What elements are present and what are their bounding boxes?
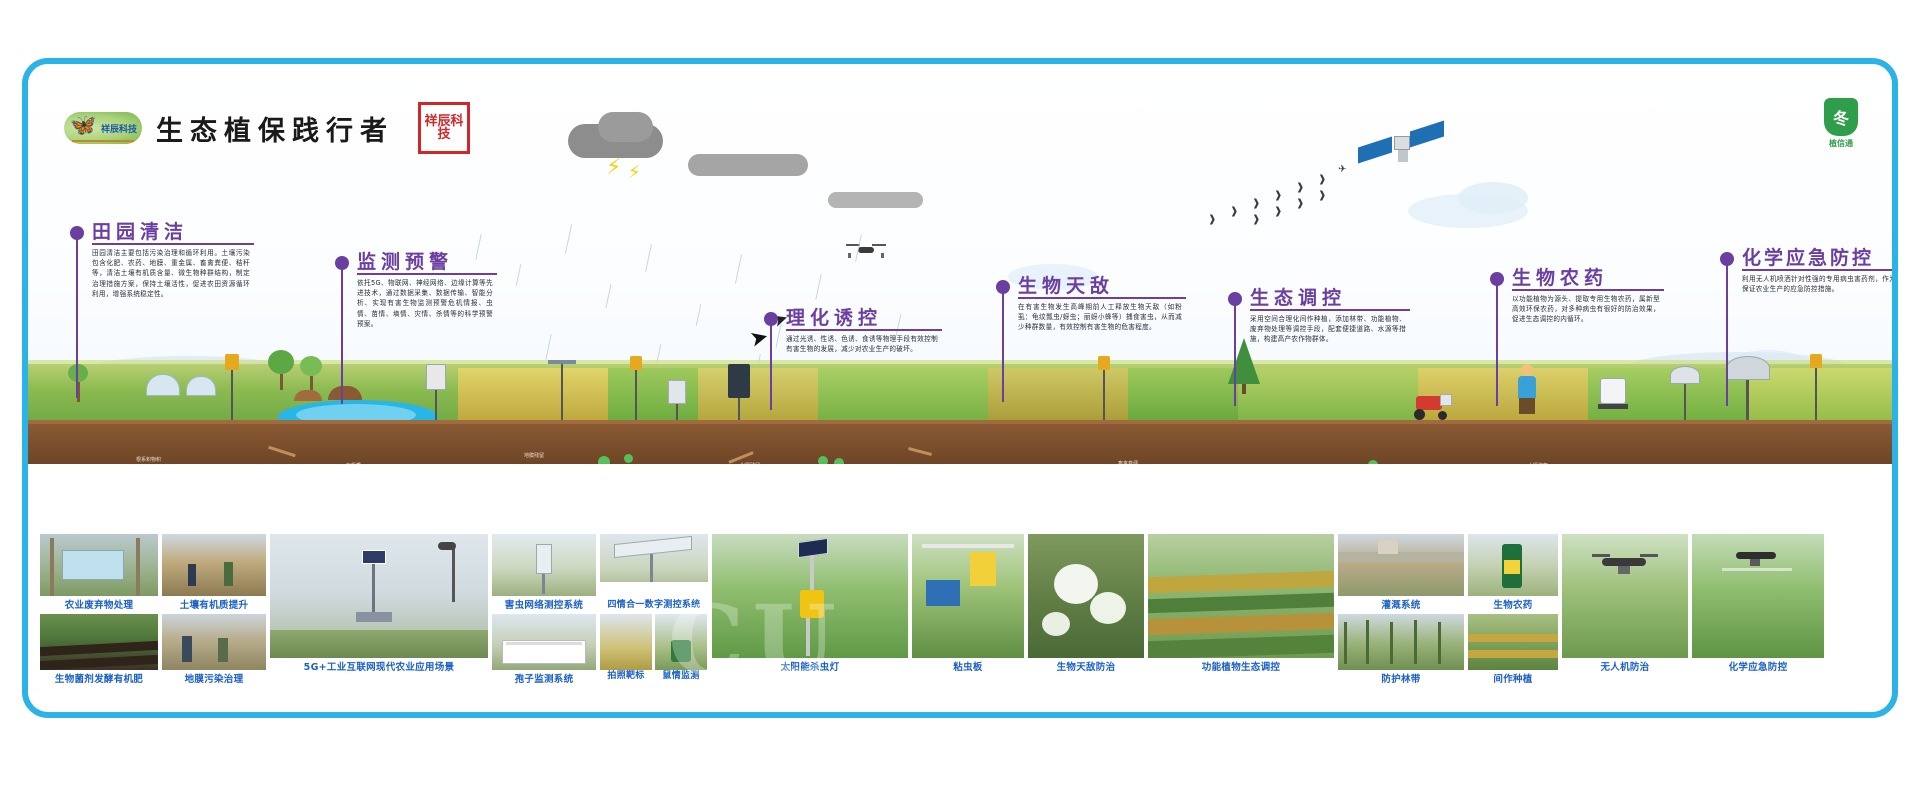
- soil-microbe-icon: [818, 456, 828, 464]
- gallery-column: 太阳能杀虫灯: [712, 534, 908, 714]
- shield-icon: 冬: [1824, 98, 1858, 136]
- callout-body: 通过光诱、性诱、色诱、食诱等物理手段有效控制有害生物的发展，减少对农业生产的破坏…: [786, 334, 938, 354]
- callout-rule: [786, 329, 942, 331]
- gallery-caption: 地膜污染治理: [162, 673, 266, 685]
- callout-rule: [1742, 269, 1898, 271]
- callout-stem: [341, 268, 343, 404]
- gallery-column: 四情合一数字测控系统 拍照靶标 鼠情监测: [600, 534, 708, 714]
- gallery-photo[interactable]: [655, 614, 707, 670]
- gallery-photo[interactable]: [1148, 534, 1334, 658]
- monitoring-pole-icon: [630, 356, 642, 424]
- soil-microbe-icon: [1368, 460, 1378, 464]
- storm-cloud-icon: [828, 192, 923, 208]
- gallery-caption: 功能植物生态调控: [1148, 661, 1334, 673]
- satellite-dish-icon: [1726, 356, 1770, 422]
- gallery-caption: 5G+工业互联网现代农业应用场景: [270, 661, 488, 673]
- bird-flock-icon: ✈ ❱ ❱ ❱ ❱ ❱ ❱ ❱ ❱ ❱ ❱: [1168, 164, 1358, 224]
- gallery-photo[interactable]: [1692, 534, 1824, 658]
- gallery-column: 粘虫板: [912, 534, 1024, 714]
- callout-body: 依托5G、物联网、神经网络、边缘计算等先进技术，通过数据采集、数据传输、智能分析…: [357, 278, 493, 329]
- callout-body: 田园清洁主要包括污染治理和循环利用。土壤污染包含化肥、农药、地膜、重金属、畜禽粪…: [92, 248, 250, 299]
- monitoring-cabinet-icon: [728, 364, 750, 426]
- gallery-caption: 灌溉系统: [1338, 599, 1464, 611]
- gallery-photo[interactable]: [162, 534, 266, 596]
- gallery-photo[interactable]: [912, 534, 1024, 658]
- callout-stem: [1496, 284, 1498, 406]
- crop-stripe: [698, 368, 818, 424]
- callout-stem: [770, 324, 772, 410]
- soil-label: 有机质: [346, 462, 361, 464]
- gallery-caption: 生物菌剂发酵有机肥: [40, 673, 158, 685]
- soil-label: 根系积物积: [136, 456, 161, 463]
- gallery-caption: 粘虫板: [912, 661, 1024, 673]
- tree-icon: [268, 350, 294, 390]
- gallery-column: 无人机防治: [1562, 534, 1688, 714]
- greenhouse-icon: [146, 374, 180, 396]
- gallery-caption: 生物农药: [1468, 599, 1558, 611]
- callout-title: 生态调控: [1250, 283, 1346, 310]
- gallery-photo[interactable]: [270, 534, 488, 658]
- gallery-column: 农业废弃物处理 生物菌剂发酵有机肥: [40, 534, 158, 714]
- gallery-photo[interactable]: [1468, 534, 1558, 596]
- gallery-column: 功能植物生态调控: [1148, 534, 1334, 714]
- tree-icon: [300, 356, 322, 390]
- farmer-icon: [1518, 364, 1536, 414]
- gallery-column: 害虫网络测控系统 孢子监测系统: [492, 534, 596, 714]
- callout-title: 化学应急防控: [1742, 243, 1874, 270]
- lightning-icon: ⚡: [606, 157, 621, 179]
- crop-stripe: [818, 368, 988, 424]
- company-logo: 🦋 祥辰科技: [64, 112, 142, 144]
- monitoring-pole-icon: [1098, 356, 1110, 424]
- soil-microbe-icon: [834, 458, 844, 464]
- gallery-photo[interactable]: [712, 534, 908, 658]
- tree-icon: [68, 364, 88, 402]
- gallery-column: 土壤有机质提升 地膜污染治理: [162, 534, 266, 714]
- gallery-photo[interactable]: [1028, 534, 1144, 658]
- gallery-photo[interactable]: [600, 614, 652, 670]
- poster-frame: ⚡ ⚡ ✈ ❱ ❱ ❱ ❱ ❱ ❱ ❱ ❱ ❱ ❱ ➤ ➤: [22, 58, 1898, 718]
- gallery-caption: 孢子监测系统: [492, 673, 596, 685]
- field-robot-icon: [1600, 378, 1628, 409]
- soil-label: 畜禽粪便: [1118, 460, 1138, 464]
- gallery-caption: 鼠情监测: [655, 670, 707, 682]
- satellite-dish-icon: [1670, 366, 1700, 422]
- callout-stem: [1726, 264, 1728, 406]
- callout-title: 监测预警: [357, 247, 453, 274]
- gallery-caption: 间作种植: [1468, 673, 1558, 685]
- tractor-icon: [1410, 394, 1454, 420]
- gallery-caption: 太阳能杀虫灯: [712, 661, 908, 673]
- lightning-icon: ⚡: [628, 164, 641, 182]
- gallery-photo[interactable]: [162, 614, 266, 670]
- gallery-caption: 防护林带: [1338, 673, 1464, 685]
- callout-rule: [92, 243, 254, 245]
- callout-title: 理化诱控: [786, 303, 882, 330]
- company-logo-text: 祥辰科技: [101, 122, 137, 135]
- callout-stem: [1234, 304, 1236, 406]
- butterfly-icon: 🦋: [70, 115, 96, 136]
- gallery-column: 生物天敌防治: [1028, 534, 1144, 714]
- greenhouse-icon: [186, 376, 216, 396]
- callout-rule: [1512, 289, 1664, 291]
- gallery-column: 化学应急防控: [1692, 534, 1824, 714]
- crop-stripe: [1128, 368, 1238, 424]
- soil-label: 土壤修复: [1528, 462, 1548, 464]
- soil-label: 地膜残留: [524, 452, 544, 459]
- storm-cloud-icon: [688, 154, 808, 176]
- storm-cloud-icon: [598, 112, 653, 142]
- soil-layer: [28, 424, 1892, 464]
- cloud-icon: [1458, 182, 1528, 214]
- gallery-photo[interactable]: [40, 534, 158, 596]
- callout-rule: [357, 273, 497, 275]
- compost-pile-icon: [294, 390, 322, 401]
- satellite-icon: [1358, 124, 1448, 194]
- callout-stem: [1002, 292, 1004, 402]
- gallery-caption: 四情合一数字测控系统: [600, 599, 708, 611]
- crop-stripe: [458, 368, 608, 424]
- gallery-caption: 生物天敌防治: [1028, 661, 1144, 673]
- seal-stamp: 祥辰科技: [418, 102, 470, 154]
- callout-body: 利用无人机喷洒针对性强的专用病虫害药剂，作为保证农业生产的应急防控措施。: [1742, 274, 1896, 294]
- soil-label: 化肥残留: [740, 462, 760, 464]
- callout-rule: [1018, 297, 1186, 299]
- gallery-photo[interactable]: [1468, 614, 1558, 670]
- gallery-caption: 土壤有机质提升: [162, 599, 266, 611]
- callout-stem: [76, 238, 78, 398]
- gallery-photo[interactable]: [1562, 534, 1688, 658]
- gallery-column: 灌溉系统 防护林带: [1338, 534, 1464, 714]
- photo-gallery: 农业废弃物处理 生物菌剂发酵有机肥 土壤有机质提升 地膜污染治理: [40, 534, 1892, 714]
- callout-rule: [1250, 309, 1410, 311]
- corner-logo: 冬 植信通: [1824, 98, 1858, 149]
- soil-microbe-icon: [624, 454, 633, 463]
- page-title: 生态植保践行者: [156, 109, 394, 148]
- callout-body: 在有害生物发生高峰期前人工释放生物天敌（如粉虱：龟纹瓢虫/蚜虫；丽蚜小蜂等）捕食…: [1018, 302, 1182, 333]
- logo-underline: [72, 140, 134, 142]
- gallery-photo[interactable]: [492, 534, 596, 596]
- gallery-column: 5G+工业互联网现代农业应用场景: [270, 534, 488, 714]
- gallery-caption: 化学应急防控: [1692, 661, 1824, 673]
- gallery-caption: 无人机防治: [1562, 661, 1688, 673]
- callout-title: 田园清洁: [92, 217, 188, 244]
- gallery-column: 生物农药 间作种植: [1468, 534, 1558, 714]
- weather-station-icon: [426, 364, 446, 426]
- tree-icon: [1228, 338, 1260, 394]
- gallery-photo[interactable]: [1338, 534, 1464, 596]
- monitoring-pole-icon: [225, 354, 239, 428]
- callout-body: 以功能植物为源头、提取专用生物农药，属新型高效环保农药，对多种病虫有很好的防治效…: [1512, 294, 1660, 325]
- gallery-caption: 拍照靶标: [600, 670, 652, 682]
- crop-stripe: [1238, 368, 1418, 424]
- gallery-photo[interactable]: [1338, 614, 1464, 670]
- antenna-icon: [548, 360, 576, 422]
- corner-logo-text: 植信通: [1824, 138, 1858, 149]
- gallery-photo[interactable]: [600, 534, 708, 596]
- poster-header: 🦋 祥辰科技 生态植保践行者 祥辰科技: [64, 102, 470, 154]
- gallery-photo[interactable]: [492, 614, 596, 670]
- gallery-photo[interactable]: [40, 614, 158, 670]
- gallery-caption: 农业废弃物处理: [40, 599, 158, 611]
- callout-title: 生物天敌: [1018, 271, 1114, 298]
- callout-title: 生物农药: [1512, 263, 1608, 290]
- soil-microbe-icon: [598, 456, 610, 464]
- monitoring-pole-icon: [1810, 354, 1822, 424]
- gallery-caption: 害虫网络测控系统: [492, 599, 596, 611]
- callout-body: 采用空间合理化间作种植，添加林带、功能植物、废弃物处理等调控手段，配套便捷道路、…: [1250, 314, 1406, 345]
